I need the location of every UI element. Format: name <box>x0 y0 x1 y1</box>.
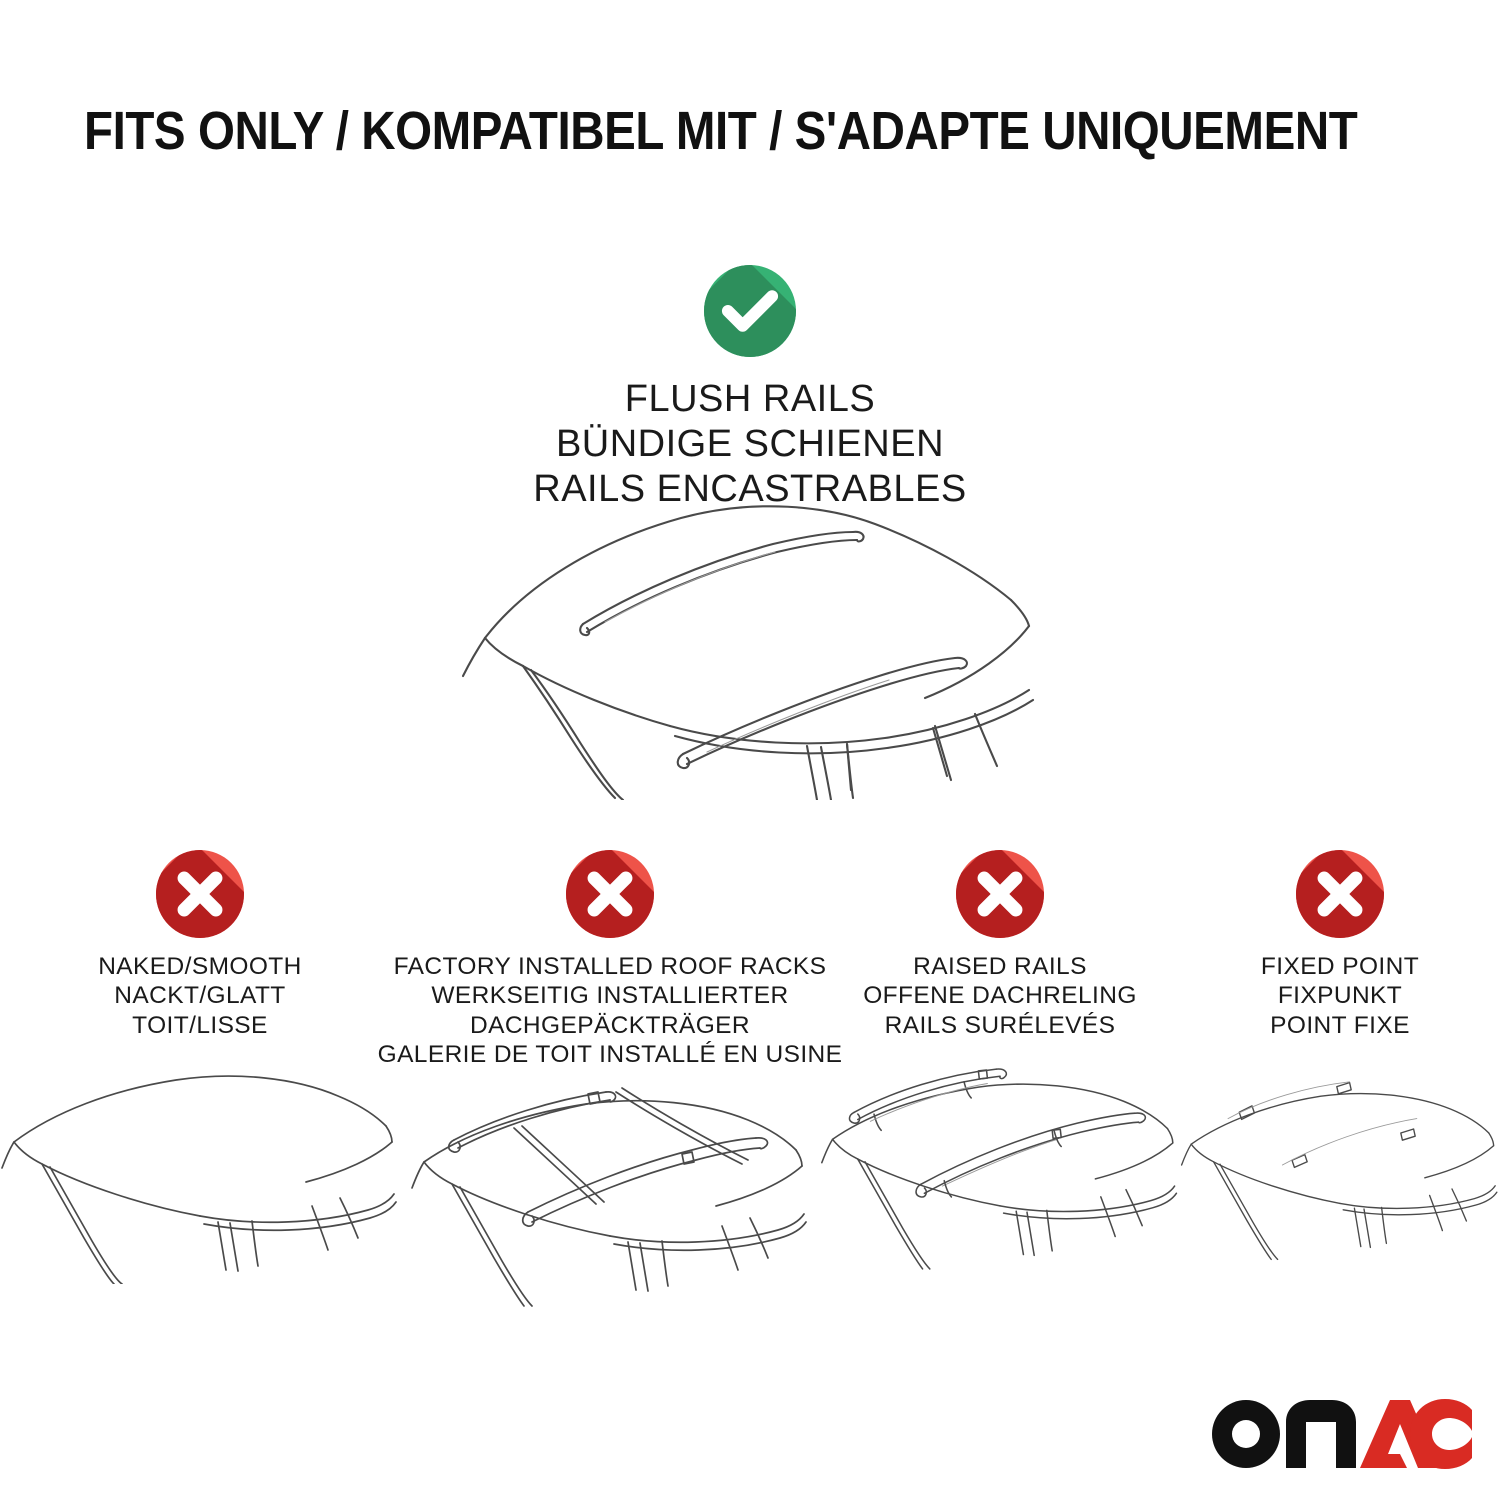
compatible-label-de: BÜNDIGE SCHIENEN <box>533 422 966 467</box>
label-de-2: DACHGEPÄCKTRÄGER <box>378 1011 843 1040</box>
label-en: RAISED RAILS <box>863 952 1137 981</box>
label-fr: TOIT/LISSE <box>98 1011 302 1040</box>
label-de: NACKT/GLATT <box>98 981 302 1010</box>
x-circle-icon <box>1296 850 1384 938</box>
label-de: FIXPUNKT <box>1261 981 1419 1010</box>
incompatible-item-factory-racks: FACTORY INSTALLED ROOF RACKS WERKSEITIG … <box>400 850 820 1314</box>
compatible-labels: FLUSH RAILS BÜNDIGE SCHIENEN RAILS ENCAS… <box>533 377 966 511</box>
check-circle-icon <box>704 265 796 357</box>
page-title: FITS ONLY / KOMPATIBEL MIT / S'ADAPTE UN… <box>0 103 1500 160</box>
label-fr: RAILS SURÉLEVÉS <box>863 1011 1137 1040</box>
incompatible-labels-fixed-point: FIXED POINT FIXPUNKT POINT FIXE <box>1261 952 1419 1040</box>
car-roof-factory-racks-illustration <box>400 1084 820 1314</box>
compatible-block: FLUSH RAILS BÜNDIGE SCHIENEN RAILS ENCAS… <box>0 265 1500 511</box>
car-roof-raised-rails-illustration <box>820 1054 1180 1284</box>
incompatible-row: NAKED/SMOOTH NACKT/GLATT TOIT/LISSE <box>0 850 1500 1314</box>
logo-letter-o <box>1212 1400 1280 1468</box>
incompatible-item-raised-rails: RAISED RAILS OFFENE DACHRELING RAILS SUR… <box>820 850 1180 1284</box>
incompatible-labels-factory-racks: FACTORY INSTALLED ROOF RACKS WERKSEITIG … <box>378 952 843 1070</box>
incompatible-labels-naked-smooth: NAKED/SMOOTH NACKT/GLATT TOIT/LISSE <box>98 952 302 1040</box>
incompatible-item-naked-smooth: NAKED/SMOOTH NACKT/GLATT TOIT/LISSE <box>0 850 400 1284</box>
logo-letter-m <box>1286 1400 1356 1468</box>
car-roof-fixed-point-illustration <box>1180 1054 1500 1284</box>
x-glyph <box>1296 850 1384 938</box>
label-fr: POINT FIXE <box>1261 1011 1419 1040</box>
label-en: FACTORY INSTALLED ROOF RACKS <box>378 952 843 981</box>
x-circle-icon <box>566 850 654 938</box>
label-de-1: WERKSEITIG INSTALLIERTER <box>378 981 843 1010</box>
label-en: FIXED POINT <box>1261 952 1419 981</box>
x-glyph <box>956 850 1044 938</box>
car-roof-flush-rails-illustration <box>455 500 1075 800</box>
omac-logo <box>1204 1388 1472 1480</box>
x-glyph <box>156 850 244 938</box>
label-en: NAKED/SMOOTH <box>98 952 302 981</box>
label-fr: GALERIE DE TOIT INSTALLÉ EN USINE <box>378 1040 843 1069</box>
check-glyph <box>704 265 796 357</box>
x-circle-icon <box>956 850 1044 938</box>
x-glyph <box>566 850 654 938</box>
incompatible-labels-raised-rails: RAISED RAILS OFFENE DACHRELING RAILS SUR… <box>863 952 1137 1040</box>
compatible-label-en: FLUSH RAILS <box>533 377 966 422</box>
incompatible-item-fixed-point: FIXED POINT FIXPUNKT POINT FIXE <box>1180 850 1500 1284</box>
page-title-text: FITS ONLY / KOMPATIBEL MIT / S'ADAPTE UN… <box>84 103 1330 160</box>
car-roof-naked-smooth-illustration <box>0 1054 400 1284</box>
x-circle-icon <box>156 850 244 938</box>
label-de: OFFENE DACHRELING <box>863 981 1137 1010</box>
fitment-compatibility-graphic: FITS ONLY / KOMPATIBEL MIT / S'ADAPTE UN… <box>0 0 1500 1500</box>
